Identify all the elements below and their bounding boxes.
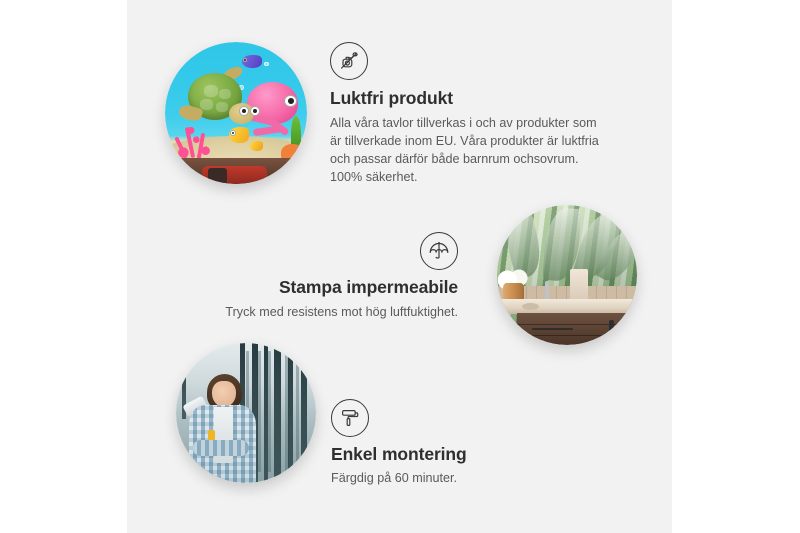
feature-waterproof: Stampa impermeabile Tryck med resistens … xyxy=(208,232,458,322)
paint-roller-icon xyxy=(331,399,369,437)
feature-description: Tryck med resistens mot hög luftfuktighe… xyxy=(208,304,458,322)
photo-bathroom xyxy=(497,205,637,345)
product-feature-panel: Luktfri produkt Alla våra tavlor tillver… xyxy=(0,0,800,533)
feature-description: Alla våra tavlor tillverkas i och av pro… xyxy=(330,115,608,187)
umbrella-icon xyxy=(420,232,458,270)
feature-title: Stampa impermeabile xyxy=(208,277,458,298)
feature-easy-mounting: Enkel montering Färgdig på 60 minuter. xyxy=(331,399,591,488)
feature-title: Enkel montering xyxy=(331,444,591,465)
photo-woman-with-paint-roller xyxy=(176,343,316,483)
feature-title: Luktfri produkt xyxy=(330,88,630,109)
photo-underwater xyxy=(165,42,307,184)
no-odour-spray-bottle-icon xyxy=(330,42,368,80)
feature-odourless: Luktfri produkt Alla våra tavlor tillver… xyxy=(330,42,630,187)
feature-description: Färgdig på 60 minuter. xyxy=(331,470,591,488)
